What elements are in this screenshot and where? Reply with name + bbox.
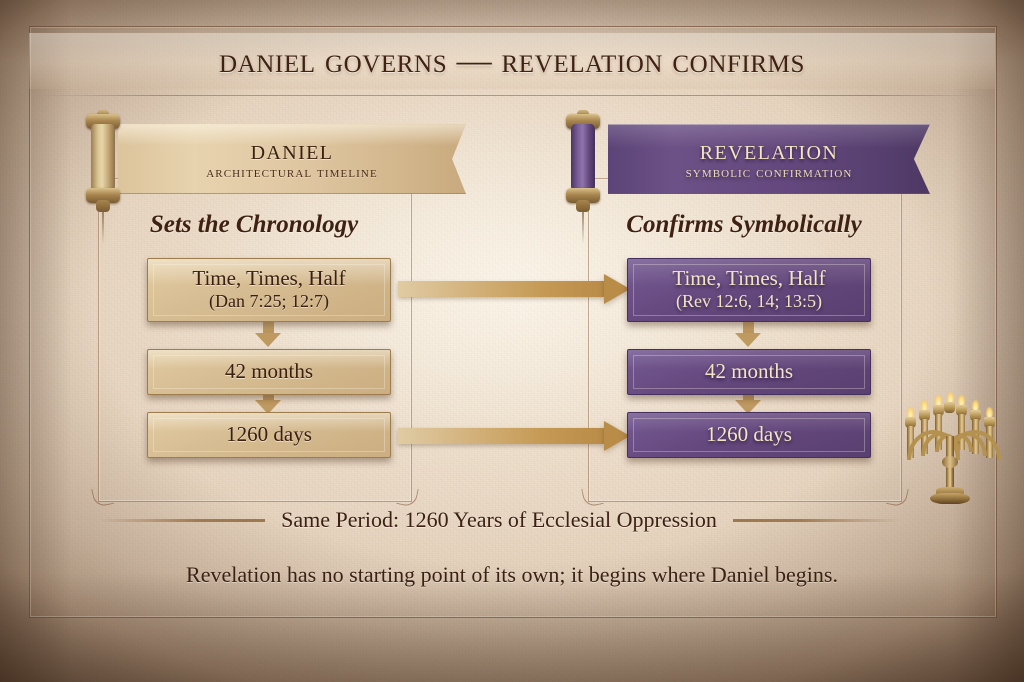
title-divider-rule [42,95,982,96]
arrow-right-icon [398,274,630,304]
node-line1: 42 months [705,360,793,384]
banner-title-daniel: Daniel [206,136,378,165]
same-period-banner: Same Period: 1260 Years of Ecclesial Opp… [98,504,900,536]
node-revelation-2: 42 months [627,349,871,395]
node-line1: 1260 days [226,423,312,447]
banner-text-group: Revelation Symbolic Confirmation [686,136,853,182]
scroll-rod-icon [568,110,598,206]
page-title: Daniel Governs — Revelation Confirms [219,41,805,81]
banner-daniel: Daniel Architectural Timeline [118,124,466,194]
node-line2: (Dan 7:25; 12:7) [209,291,329,313]
node-revelation-3: 1260 days [627,412,871,458]
arrow-down-icon [255,322,281,346]
node-line2: (Rev 12:6, 14; 13:5) [676,291,822,313]
subhead-revelation: Confirms Symbolically [588,211,900,239]
scroll-stem-icon [102,210,104,244]
node-daniel-2: 42 months [147,349,391,395]
node-daniel-3: 1260 days [147,412,391,458]
banner-text-group: Daniel Architectural Timeline [206,136,378,182]
scroll-stem-icon [582,210,584,244]
subhead-daniel: Sets the Chronology [98,211,410,239]
node-line1: 42 months [225,360,313,384]
scroll-tube-icon [571,124,595,192]
banner-subtitle-revelation: Symbolic Confirmation [686,166,853,182]
scroll-tube-icon [91,124,115,192]
scroll-rod-icon [88,110,118,206]
rule-right [733,519,900,522]
banner-subtitle-daniel: Architectural Timeline [206,166,378,182]
rule-left [98,519,265,522]
node-line1: 1260 days [706,423,792,447]
same-period-text: Same Period: 1260 Years of Ecclesial Opp… [265,507,733,533]
banner-title-revelation: Revelation [686,136,853,165]
caption-text: Revelation has no starting point of its … [29,562,995,588]
node-line1: Time, Times, Half [672,267,825,291]
arrow-down-icon [735,322,761,346]
poster-canvas: Daniel Governs — Revelation Confirms Dan… [0,0,1024,682]
banner-revelation: Revelation Symbolic Confirmation [608,124,930,194]
title-band: Daniel Governs — Revelation Confirms [29,33,995,89]
menorah-icon [896,382,1004,504]
node-revelation-1: Time, Times, Half (Rev 12:6, 14; 13:5) [627,258,871,322]
node-line1: Time, Times, Half [192,267,345,291]
node-daniel-1: Time, Times, Half (Dan 7:25; 12:7) [147,258,391,322]
arrow-right-icon [398,421,630,451]
